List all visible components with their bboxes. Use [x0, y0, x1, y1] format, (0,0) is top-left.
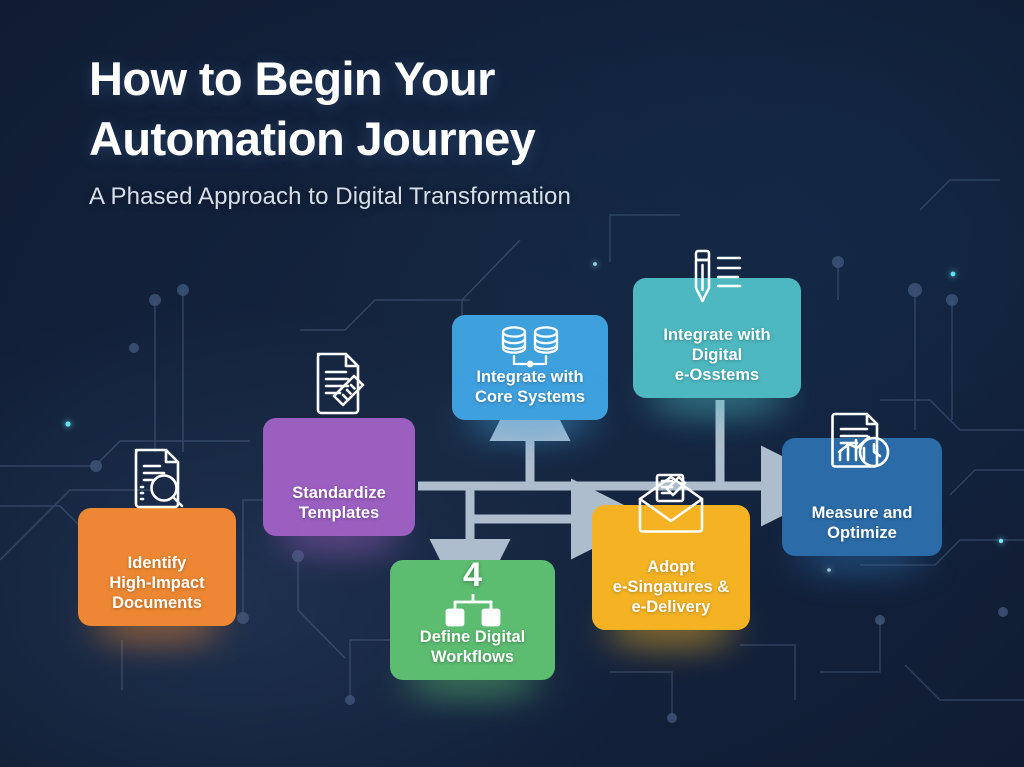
- node-label: Identify High-Impact Documents: [109, 553, 204, 613]
- node-measure-optimize[interactable]: Measure and Optimize: [782, 438, 942, 556]
- title-line-1: How to Begin Your: [89, 49, 571, 109]
- node-standardize-templates[interactable]: Standardize Templates: [263, 418, 415, 536]
- node-label: Integrate with Core Systems: [475, 367, 585, 407]
- node-label: Standardize Templates: [292, 483, 386, 523]
- title-line-2: Automation Journey: [89, 109, 571, 169]
- page-title: How to Begin Your Automation Journey: [89, 49, 571, 169]
- node-label: Integrate with Digital e-Osstems: [663, 325, 770, 385]
- step-number: 4: [463, 558, 482, 592]
- header: How to Begin Your Automation Journey A P…: [89, 49, 571, 211]
- workflow-tree-icon: [441, 594, 505, 630]
- node-label: Measure and Optimize: [812, 503, 913, 543]
- node-define-digital-workflows[interactable]: 4 Define Digital Workflows: [390, 560, 555, 680]
- node-adopt-esignatures-edelivery[interactable]: Adopt e-Singatures & e-Delivery: [592, 505, 750, 630]
- node-label: Define Digital Workflows: [420, 627, 525, 667]
- node-identify-high-impact-documents[interactable]: Identify High-Impact Documents: [78, 508, 236, 626]
- node-integrate-core-systems[interactable]: Integrate with Core Systems: [452, 315, 608, 420]
- page-subtitle: A Phased Approach to Digital Transformat…: [89, 183, 571, 211]
- node-integrate-digital-esystems[interactable]: Integrate with Digital e-Osstems: [633, 278, 801, 398]
- node-label: Adopt e-Singatures & e-Delivery: [613, 557, 729, 617]
